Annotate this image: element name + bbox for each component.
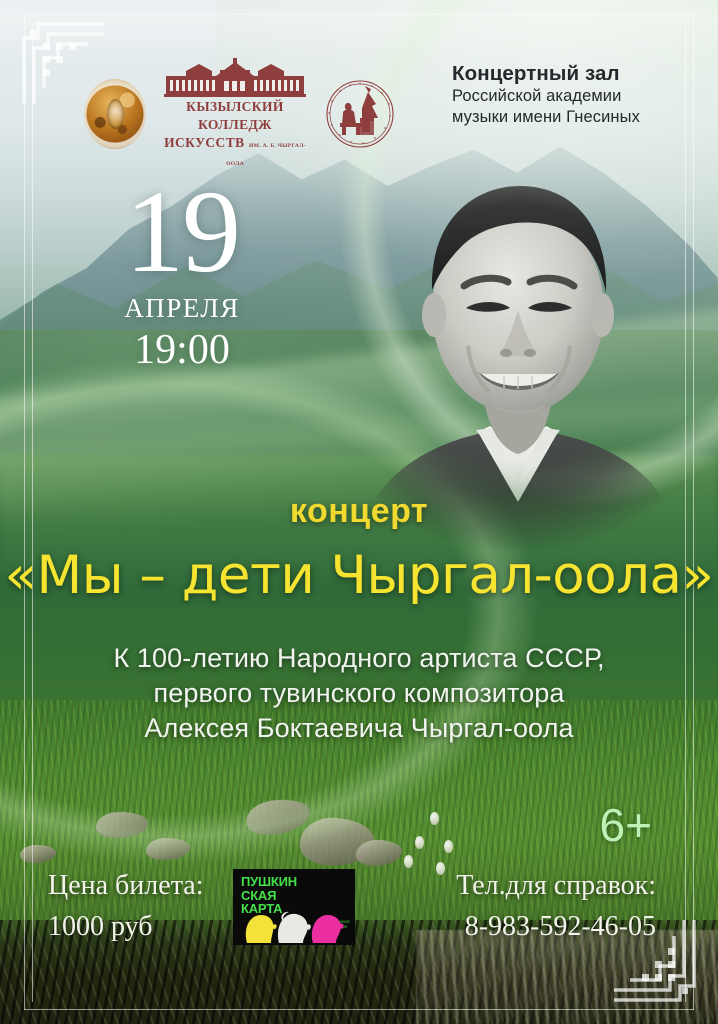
seed-head bbox=[415, 836, 424, 849]
age-rating-badge: 6+ bbox=[600, 798, 652, 852]
poster-header: КЫЗЫЛСКИЙ КОЛЛЕДЖ ИСКУССТВ ИМ. А. Б. ЧЫР… bbox=[0, 0, 718, 152]
pushkin-card-logo: ПУШКИН СКАЯ КАРТА ВИДИМ САМОЕ ИНТЕРЕСНОЕ bbox=[233, 869, 355, 945]
event-month: АПРЕЛЯ bbox=[82, 293, 282, 324]
event-kicker: концерт bbox=[0, 492, 718, 531]
emblem-texture bbox=[84, 79, 146, 149]
pushkin-line-1: ПУШКИН bbox=[241, 875, 297, 889]
ticket-price-block: Цена билета: 1000 руб bbox=[48, 866, 203, 947]
venue-line-3: музыки имени Гнесиных bbox=[452, 107, 640, 128]
subtitle-line-1: К 100-летию Народного артиста СССР, bbox=[0, 641, 718, 676]
venue-line-2: Российской академии bbox=[452, 86, 640, 107]
kyzyl-college-logo: КЫЗЫЛСКИЙ КОЛЛЕДЖ ИСКУССТВ ИМ. А. Б. ЧЫР… bbox=[164, 58, 306, 170]
pushkin-head-silhouettes-icon bbox=[239, 903, 351, 943]
event-day: 19 bbox=[82, 178, 282, 287]
tuva-gold-emblem-icon bbox=[84, 79, 146, 149]
subtitle-line-2: первого тувинского композитора bbox=[0, 676, 718, 711]
college-name-line1: КЫЗЫЛСКИЙ bbox=[186, 99, 284, 114]
subtitle-line-3: Алексея Боктаевича Чыргал-оола bbox=[0, 711, 718, 746]
venue-title: Концертный зал Российской академии музык… bbox=[452, 62, 640, 128]
logo-row: КЫЗЫЛСКИЙ КОЛЛЕДЖ ИСКУССТВ ИМ. А. Б. ЧЫР… bbox=[84, 58, 396, 170]
event-time: 19:00 bbox=[82, 326, 282, 374]
phone-value: 8-983-592-46-05 bbox=[456, 907, 656, 948]
event-date-block: 19 АПРЕЛЯ 19:00 bbox=[82, 178, 282, 374]
seed-head bbox=[436, 862, 445, 875]
price-value: 1000 руб bbox=[48, 907, 203, 948]
seed-head bbox=[404, 855, 413, 868]
event-title: «Мы – дети Чыргал-оола» bbox=[0, 545, 718, 606]
pushkin-line-2: СКАЯ bbox=[241, 889, 297, 903]
college-building-icon bbox=[164, 58, 306, 98]
price-label: Цена билета: bbox=[48, 866, 203, 907]
phone-label: Тел.для справок: bbox=[456, 866, 656, 907]
portrait-photo bbox=[318, 150, 718, 550]
seed-head bbox=[430, 812, 439, 825]
contact-phone-block: Тел.для справок: 8-983-592-46-05 bbox=[456, 866, 656, 947]
venue-line-1: Концертный зал bbox=[452, 62, 640, 86]
event-subtitle: К 100-летию Народного артиста СССР, перв… bbox=[0, 641, 718, 746]
seed-head bbox=[444, 840, 453, 853]
gnesin-academy-seal-icon bbox=[324, 78, 396, 150]
concert-poster: КЫЗЫЛСКИЙ КОЛЛЕДЖ ИСКУССТВ ИМ. А. Б. ЧЫР… bbox=[0, 0, 718, 1024]
